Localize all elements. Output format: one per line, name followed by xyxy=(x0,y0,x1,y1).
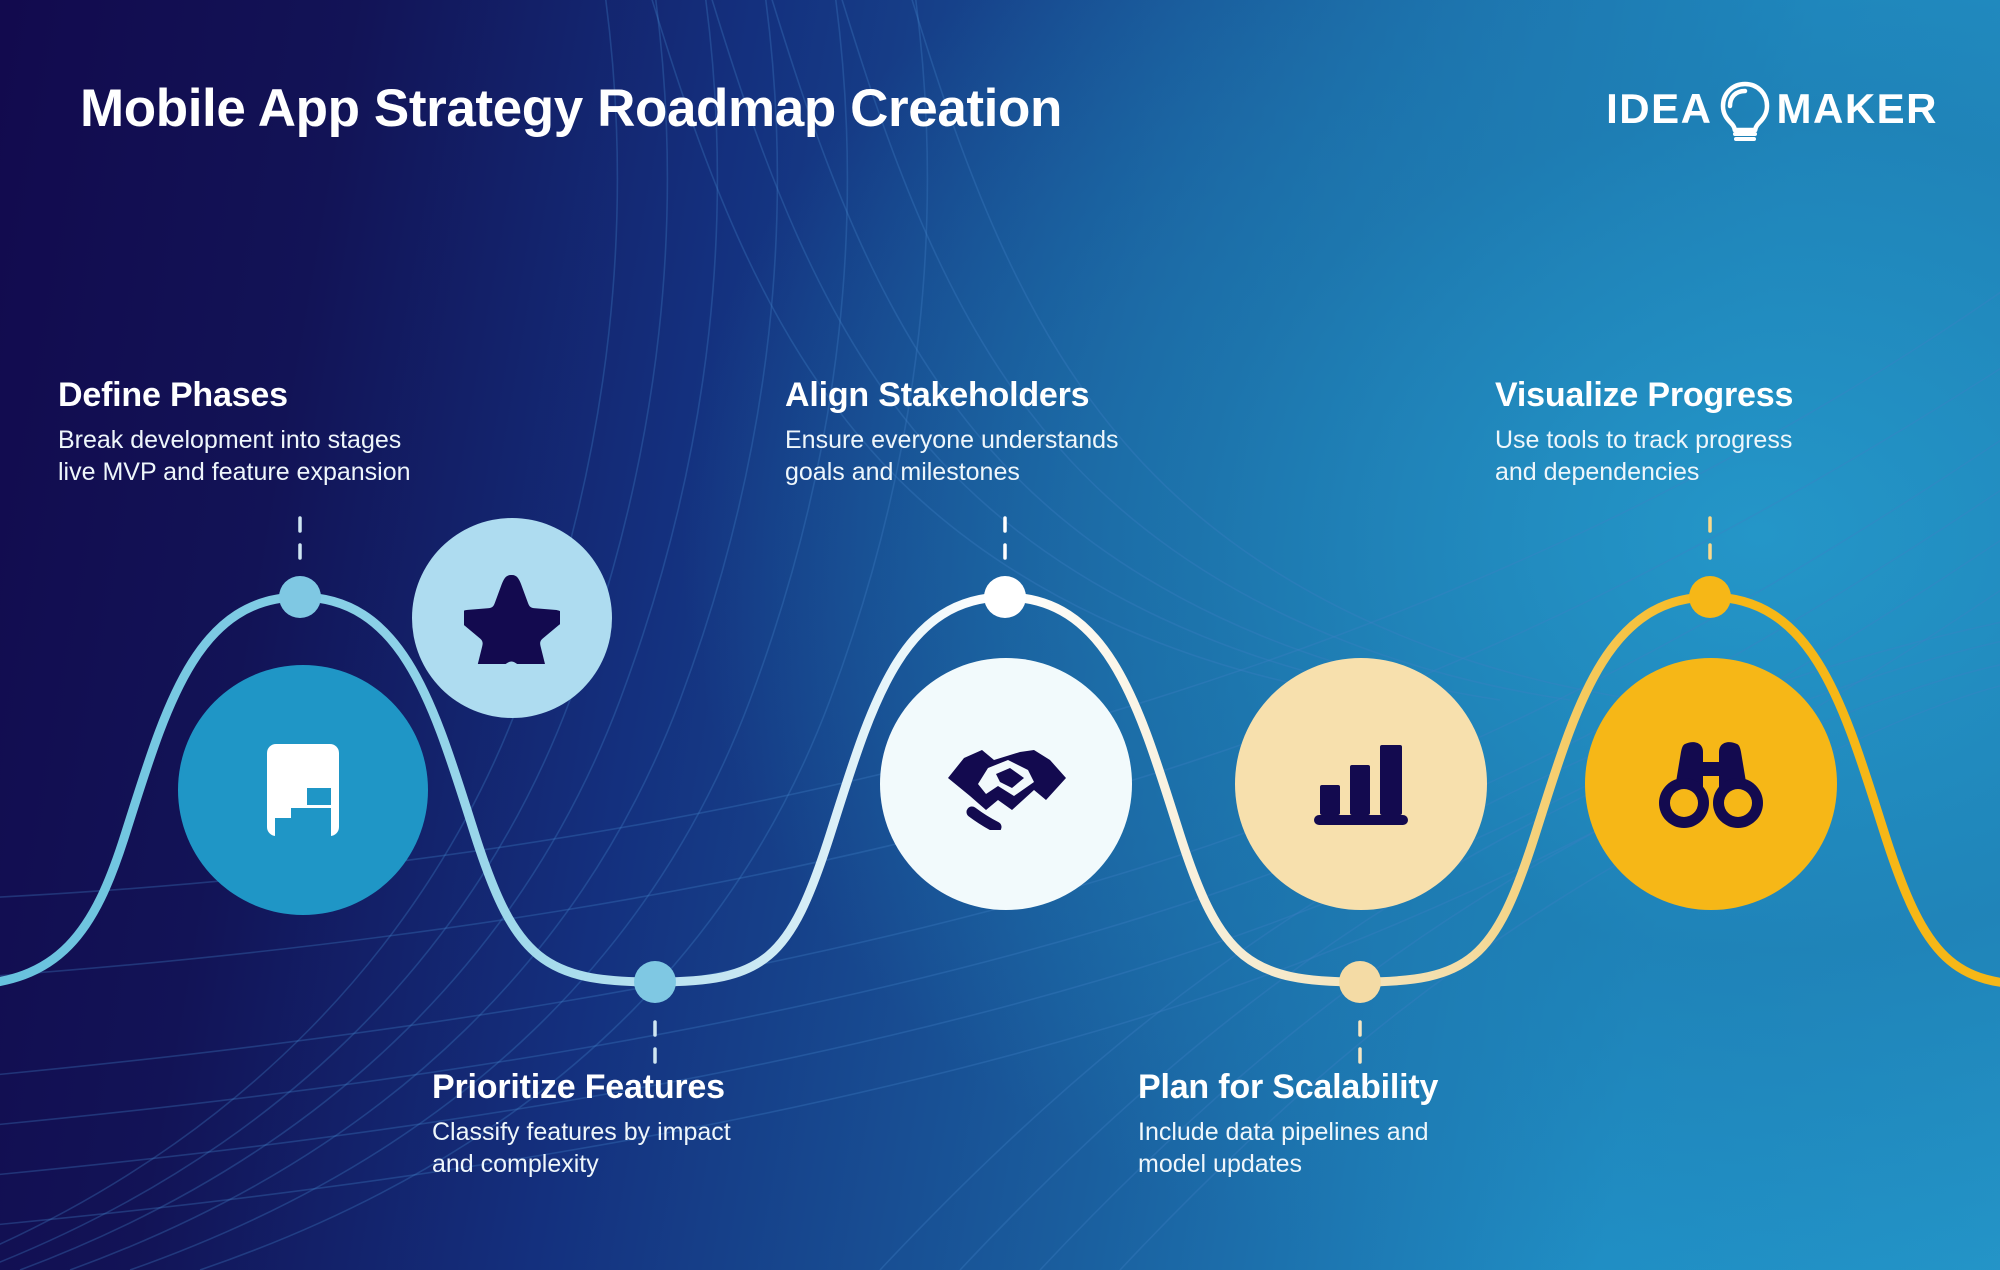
step-circle-prioritize-features[interactable] xyxy=(412,518,612,718)
step-title-plan-for-scalability: Plan for Scalability xyxy=(1138,1068,1438,1107)
lightbulb-icon xyxy=(1719,81,1771,143)
step-text-align-stakeholders: Align Stakeholders Ensure everyone under… xyxy=(785,376,1119,489)
page-title: Mobile App Strategy Roadmap Creation xyxy=(80,78,1062,139)
step-title-define-phases: Define Phases xyxy=(58,376,411,415)
step-description-define-phases: Break development into stages live MVP a… xyxy=(58,425,411,489)
step-text-prioritize-features: Prioritize Features Classify features by… xyxy=(432,1068,731,1181)
step-circle-align-stakeholders[interactable] xyxy=(880,658,1132,910)
step-description-prioritize-features: Classify features by impact and complexi… xyxy=(432,1117,731,1181)
step-description-align-stakeholders: Ensure everyone understands goals and mi… xyxy=(785,425,1119,489)
node-dot-define-phases xyxy=(279,576,321,618)
step-description-visualize-progress: Use tools to track progress and dependen… xyxy=(1495,425,1793,489)
star-icon xyxy=(464,572,560,664)
node-dot-visualize-progress xyxy=(1689,576,1731,618)
logo-text-right: MAKER xyxy=(1777,85,1939,133)
bar-chart-icon xyxy=(1314,741,1408,827)
step-text-define-phases: Define Phases Break development into sta… xyxy=(58,376,411,489)
step-circle-plan-for-scalability[interactable] xyxy=(1235,658,1487,910)
handshake-icon xyxy=(942,738,1070,830)
step-circle-visualize-progress[interactable] xyxy=(1585,658,1837,910)
node-dot-prioritize-features xyxy=(634,961,676,1003)
logo-text-left: IDEA xyxy=(1606,85,1712,133)
roadmap-wave-connector xyxy=(0,0,2000,1270)
step-title-visualize-progress: Visualize Progress xyxy=(1495,376,1793,415)
step-circle-define-phases[interactable] xyxy=(178,665,428,915)
step-description-plan-for-scalability: Include data pipelines and model updates xyxy=(1138,1117,1438,1181)
brand-logo[interactable]: IDEA MAKER xyxy=(1606,78,1938,140)
node-dot-plan-for-scalability xyxy=(1339,961,1381,1003)
step-title-align-stakeholders: Align Stakeholders xyxy=(785,376,1119,415)
node-dot-align-stakeholders xyxy=(984,576,1026,618)
binoculars-icon xyxy=(1659,738,1763,830)
step-title-prioritize-features: Prioritize Features xyxy=(432,1068,731,1107)
step-text-visualize-progress: Visualize Progress Use tools to track pr… xyxy=(1495,376,1793,489)
infographic-canvas: Mobile App Strategy Roadmap Creation IDE… xyxy=(0,0,2000,1270)
step-text-plan-for-scalability: Plan for Scalability Include data pipeli… xyxy=(1138,1068,1438,1181)
document-stages-icon xyxy=(263,742,343,838)
